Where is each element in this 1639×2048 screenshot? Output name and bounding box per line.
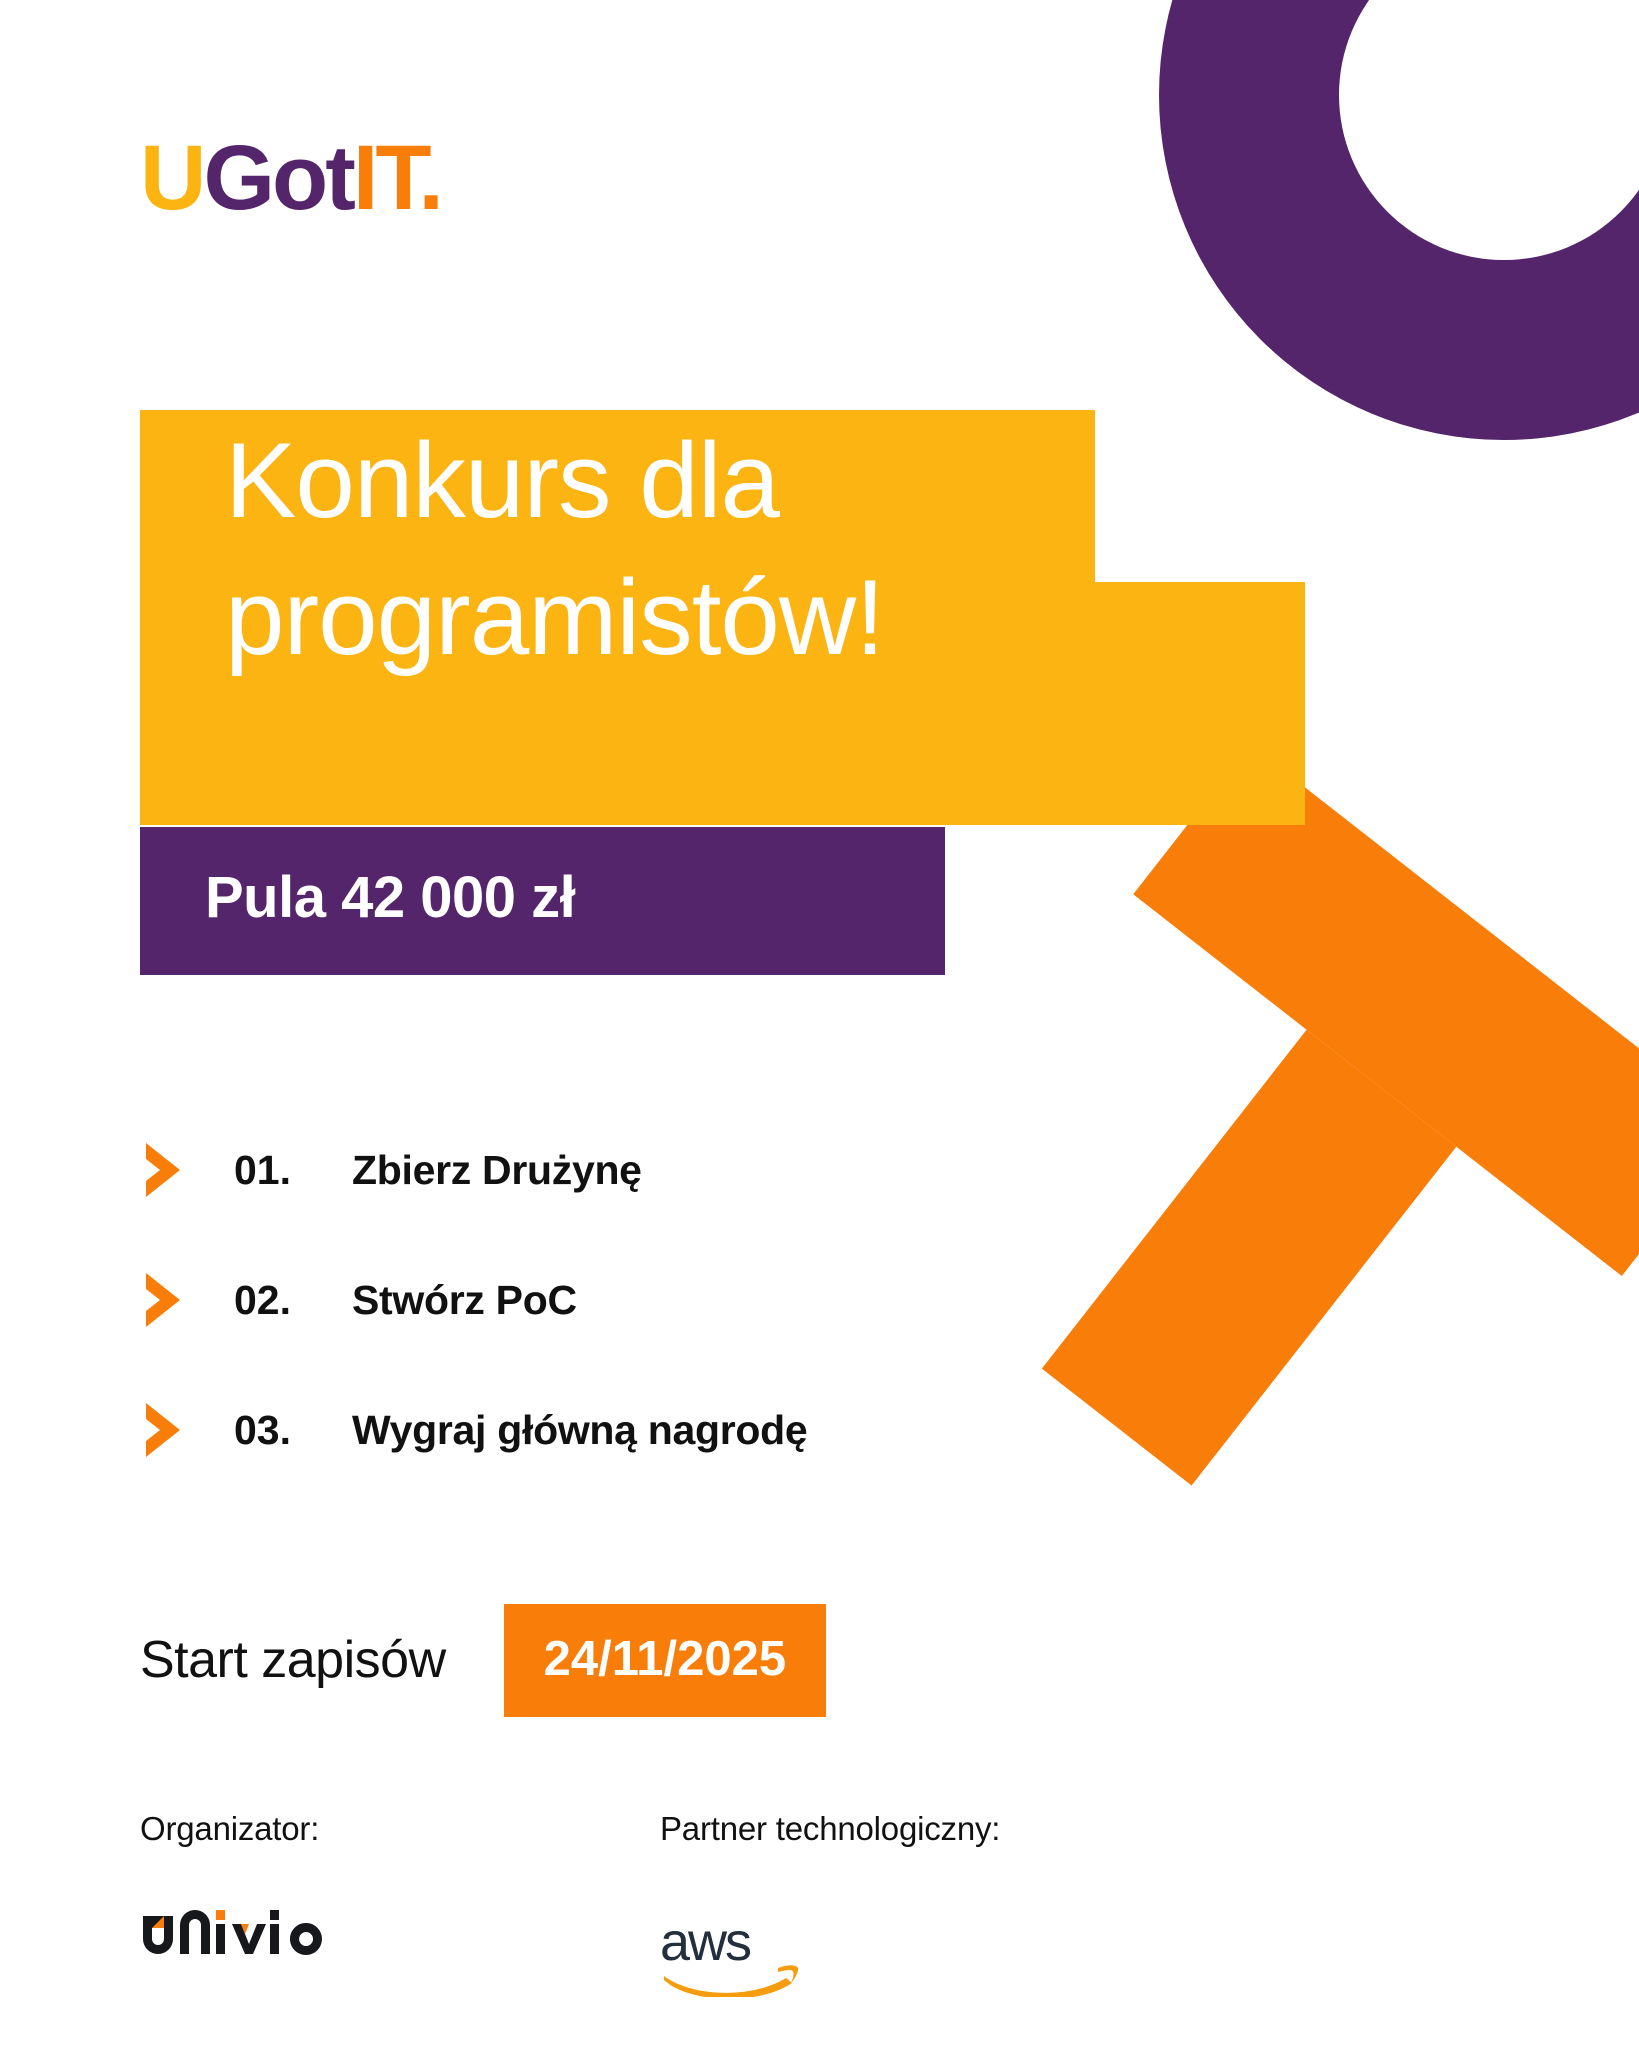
footer: Organizator: Par <box>140 1810 1240 1997</box>
chevron-right-icon <box>140 1270 186 1330</box>
step-number: 03. <box>234 1407 352 1454</box>
step-label: Zbierz Drużynę <box>352 1147 642 1194</box>
step-label: Wygraj główną nagrodę <box>352 1407 807 1454</box>
poster-canvas: UGotIT. Konkurs dla programistów! Pula 4… <box>0 0 1639 2048</box>
logo-u: U <box>140 127 203 229</box>
brand-logo: UGotIT. <box>140 132 441 224</box>
letter-g-shape-icon <box>1159 0 1639 440</box>
chevron-right-icon <box>140 1400 186 1460</box>
logo-got: Got <box>203 127 352 229</box>
page-title: Konkurs dla programistów! <box>225 412 1425 686</box>
organizer-label: Organizator: <box>140 1810 660 1848</box>
signup-start-row: Start zapisów 24/11/2025 <box>140 1597 826 1723</box>
logo-it: IT. <box>353 127 441 229</box>
step-number: 02. <box>234 1277 352 1324</box>
organizer-column: Organizator: <box>140 1810 660 1997</box>
prize-amount-label: Pula 42 000 zł <box>205 869 575 927</box>
svg-text:aws: aws <box>660 1912 751 1972</box>
signup-date-badge: 24/11/2025 <box>504 1604 827 1717</box>
tech-partner-column: Partner technologiczny: aws <box>660 1810 1000 1997</box>
signup-start-label: Start zapisów <box>140 1630 446 1690</box>
tech-partner-label: Partner technologiczny: <box>660 1810 1000 1848</box>
aws-logo: aws <box>660 1910 802 1997</box>
list-item: 01. Zbierz Drużynę <box>140 1105 1240 1235</box>
chevron-right-icon <box>140 1140 186 1200</box>
headline-block: Konkurs dla programistów! <box>0 410 1639 825</box>
step-label: Stwórz PoC <box>352 1277 577 1324</box>
list-item: 02. Stwórz PoC <box>140 1235 1240 1365</box>
list-item: 03. Wygraj główną nagrodę <box>140 1365 1240 1495</box>
steps-list: 01. Zbierz Drużynę 02. Stwórz PoC 03. Wy… <box>140 1105 1240 1495</box>
step-number: 01. <box>234 1147 352 1194</box>
univio-logo <box>140 1910 332 1957</box>
